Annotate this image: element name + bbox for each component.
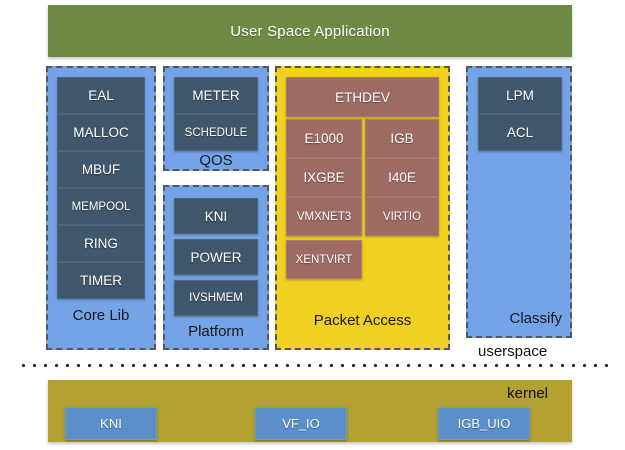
- module-label: IGB_UIO: [458, 416, 511, 431]
- module-kni: KNI: [174, 198, 258, 234]
- module-i40e: I40E: [365, 158, 439, 197]
- kernel-module-igb-uio: IGB_UIO: [438, 407, 530, 440]
- group-qos: METER SCHEDULE QOS: [163, 66, 269, 171]
- kernel-band: kernel KNI VF_IO IGB_UIO: [48, 380, 572, 442]
- module-label: VIRTIO: [383, 211, 421, 223]
- module-label: I40E: [388, 170, 416, 185]
- module-ixgbe: IXGBE: [286, 158, 362, 197]
- module-label: SCHEDULE: [185, 127, 248, 139]
- module-label: MBUF: [82, 162, 120, 177]
- kernel-module-kni: KNI: [65, 407, 157, 440]
- module-label: KNI: [205, 209, 228, 224]
- module-label: EAL: [88, 88, 114, 103]
- userspace-kernel-divider: [18, 364, 614, 367]
- group-label-qos: QOS: [165, 153, 267, 168]
- module-vmxnet3: VMXNET3: [286, 197, 362, 236]
- module-label: KNI: [100, 416, 122, 431]
- module-label: E1000: [304, 131, 343, 146]
- module-mempool: MEMPOOL: [57, 188, 145, 225]
- module-label: VMXNET3: [297, 211, 351, 223]
- user-space-application-bar: User Space Application: [48, 5, 572, 57]
- group-classify: LPM ACL Classify: [466, 66, 572, 338]
- group-label-platform: Platform: [165, 324, 267, 339]
- module-malloc: MALLOC: [57, 114, 145, 151]
- module-e1000: E1000: [286, 119, 362, 158]
- module-mbuf: MBUF: [57, 151, 145, 188]
- module-xentvirt: XENTVIRT: [286, 240, 362, 279]
- group-label-classify: Classify: [509, 311, 562, 326]
- module-label: IGB: [390, 131, 413, 146]
- group-label-packet-access: Packet Access: [277, 313, 448, 328]
- module-label: TIMER: [80, 273, 122, 288]
- group-label-core-lib: Core Lib: [48, 308, 154, 323]
- module-label: XENTVIRT: [296, 254, 353, 266]
- module-label: ACL: [507, 125, 533, 140]
- module-virtio: VIRTIO: [365, 197, 439, 236]
- module-meter: METER: [174, 77, 258, 114]
- module-igb: IGB: [365, 119, 439, 158]
- user-space-application-label: User Space Application: [230, 23, 390, 40]
- module-schedule: SCHEDULE: [174, 114, 258, 151]
- module-label: ETHDEV: [335, 90, 390, 105]
- group-packet-access: ETHDEV E1000 IXGBE VMXNET3 XENTVIRT IGB …: [275, 66, 450, 350]
- module-label: RING: [84, 236, 118, 251]
- module-acl: ACL: [478, 114, 562, 151]
- kernel-module-vf-io: VF_IO: [255, 407, 347, 440]
- module-lpm: LPM: [478, 77, 562, 114]
- module-eal: EAL: [57, 77, 145, 114]
- module-power: POWER: [174, 239, 258, 275]
- module-timer: TIMER: [57, 262, 145, 299]
- module-label: LPM: [506, 88, 534, 103]
- module-ring: RING: [57, 225, 145, 262]
- module-ethdev: ETHDEV: [286, 77, 439, 117]
- module-label: VF_IO: [282, 416, 320, 431]
- group-core-lib: EAL MALLOC MBUF MEMPOOL RING TIMER Core …: [46, 66, 156, 350]
- module-label: MALLOC: [73, 125, 129, 140]
- kernel-zone-label: kernel: [507, 385, 548, 402]
- module-label: METER: [192, 88, 239, 103]
- module-label: IVSHMEM: [189, 292, 243, 304]
- module-label: IXGBE: [303, 170, 344, 185]
- module-label: POWER: [190, 250, 241, 265]
- group-platform: KNI POWER IVSHMEM Platform: [163, 185, 269, 350]
- module-label: MEMPOOL: [72, 201, 131, 213]
- dpdk-architecture-diagram: User Space Application EAL MALLOC MBUF M…: [0, 0, 625, 450]
- userspace-zone-label: userspace: [478, 343, 547, 360]
- module-ivshmem: IVSHMEM: [174, 280, 258, 316]
